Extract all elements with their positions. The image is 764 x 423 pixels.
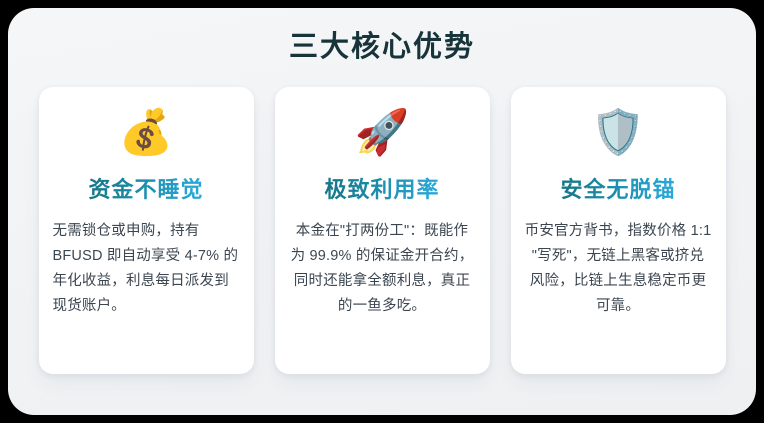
feature-card-title: 安全无脱锚 — [560, 175, 675, 205]
feature-card-title: 资金不睡觉 — [88, 175, 203, 205]
rocket-emoji-icon: 🚀 — [355, 105, 410, 165]
feature-card-body: 币安官方背书，指数价格 1:1 "写死"，无链上黑客或挤兑风险，比链上生息稳定币… — [525, 219, 712, 319]
feature-card-list: 💰 资金不睡觉 无需锁仓或申购，持有 BFUSD 即自动享受 4-7% 的年化收… — [8, 65, 756, 374]
money-bag-emoji-icon: 💰 — [119, 105, 174, 165]
shield-emoji-icon: 🛡️ — [591, 105, 646, 165]
feature-card-body: 本金在"打两份工"：既能作为 99.9% 的保证金开合约，同时还能拿全额利息，真… — [289, 219, 476, 319]
feature-card-title: 极致利用率 — [324, 175, 439, 205]
feature-card: 💰 资金不睡觉 无需锁仓或申购，持有 BFUSD 即自动享受 4-7% 的年化收… — [39, 87, 254, 374]
feature-card: 🛡️ 安全无脱锚 币安官方背书，指数价格 1:1 "写死"，无链上黑客或挤兑风险… — [511, 87, 726, 374]
page-title: 三大核心优势 — [8, 8, 756, 65]
feature-card-body: 无需锁仓或申购，持有 BFUSD 即自动享受 4-7% 的年化收益，利息每日派发… — [53, 219, 240, 319]
feature-card: 🚀 极致利用率 本金在"打两份工"：既能作为 99.9% 的保证金开合约，同时还… — [275, 87, 490, 374]
feature-panel: 三大核心优势 💰 资金不睡觉 无需锁仓或申购，持有 BFUSD 即自动享受 4-… — [8, 8, 756, 415]
